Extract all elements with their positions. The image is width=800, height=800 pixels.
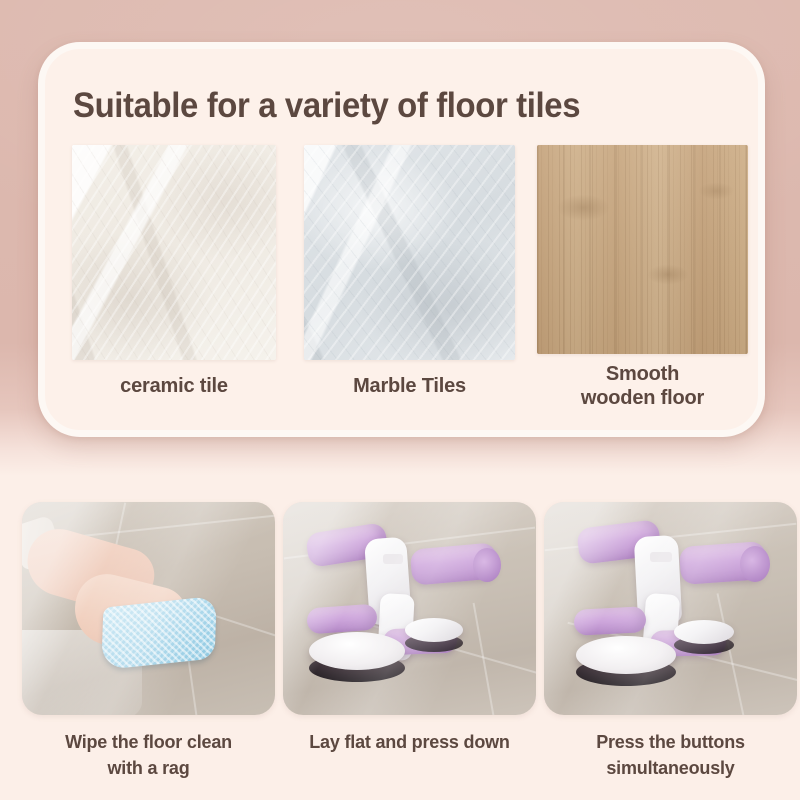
step-2-photo-lay-flat [283,502,536,715]
foam-roller-cap [473,548,501,582]
wooden-floor-label: Smooth wooden floor [537,362,748,410]
step-3-caption-line1: Press the buttons [544,729,797,755]
wooden-floor-swatch [537,145,748,354]
adjustment-slot [650,552,672,562]
tile-option-ceramic[interactable]: ceramic tile [72,145,276,398]
step-1-caption: Wipe the floor clean with a rag [22,729,275,781]
step-2-caption-line1: Lay flat and press down [283,729,536,755]
marble-tile-swatch [304,145,515,360]
suction-cup-secondary [405,618,463,642]
tile-option-wooden-floor[interactable]: Smooth wooden floor [537,145,748,410]
wooden-floor-label-line1: Smooth [537,362,748,386]
foam-roller-lower-left [573,606,646,636]
step-3: Press the buttons simultaneously [544,502,797,781]
step-1-caption-line1: Wipe the floor clean [22,729,275,755]
situp-bar-product [283,502,536,715]
step-3-caption-line2: simultaneously [544,755,797,781]
step-3-photo-press-buttons [544,502,797,715]
step-1-caption-line2: with a rag [22,755,275,781]
foam-roller-lower-left [306,604,378,635]
step-3-caption: Press the buttons simultaneously [544,729,797,781]
step-2-caption: Lay flat and press down [283,729,536,755]
adjustment-slot [383,554,403,564]
floor-tiles-section: Suitable for a variety of floor tiles ce… [0,0,800,476]
ceramic-tile-swatch [72,145,276,360]
step-1-photo-wipe-floor [22,502,275,715]
suction-cup [576,636,676,674]
ceramic-tile-label: ceramic tile [72,374,276,398]
floor-tiles-card: Suitable for a variety of floor tiles ce… [38,42,765,437]
foam-roller-cap [740,546,770,582]
marble-tile-label: Marble Tiles [304,374,515,398]
page-title: Suitable for a variety of floor tiles [73,87,580,125]
tile-option-marble[interactable]: Marble Tiles [304,145,515,398]
blue-cleaning-rag [101,596,217,670]
step-2: Lay flat and press down [283,502,536,755]
step-1: Wipe the floor clean with a rag [22,502,275,781]
tile-swatch-row: ceramic tile Marble Tiles Smooth wooden … [45,145,758,435]
suction-cup [309,632,405,670]
situp-bar-product [544,502,797,715]
wooden-floor-label-line2: wooden floor [537,386,748,410]
instruction-steps-section: Wipe the floor clean with a rag [0,476,800,800]
suction-cup-secondary [674,620,734,644]
